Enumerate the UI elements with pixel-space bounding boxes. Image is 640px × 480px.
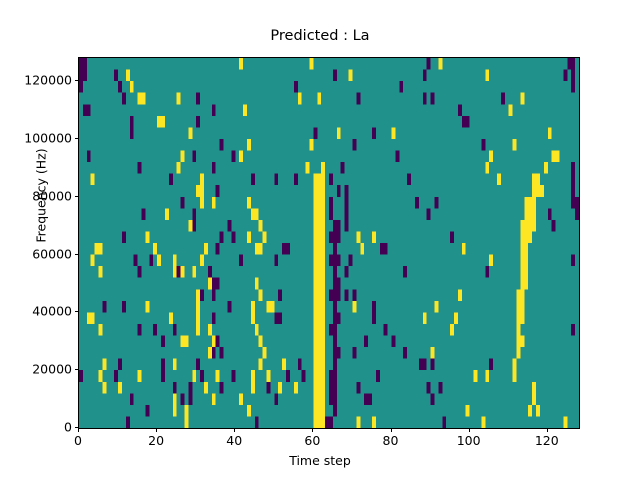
x-tick-label: 120 [535,433,559,448]
matplotlib-figure: Predicted : La 0200004000060000800001000… [0,0,640,480]
y-tick-label: 40000 [10,304,72,319]
page-title: Predicted : La [0,28,640,44]
y-tick-label: 120000 [10,73,72,88]
x-axis-label: Time step [0,453,640,468]
x-tick-label: 40 [226,433,242,448]
heatmap-image [79,58,579,428]
y-axis-label: Frequency (Hz) [34,148,49,242]
y-tick-label: 60000 [10,246,72,261]
y-tick-label: 0 [10,420,72,435]
x-tick-label: 20 [148,433,164,448]
heatmap-axes[interactable] [78,57,580,429]
x-tick-label: 80 [383,433,399,448]
x-tick-label: 100 [457,433,481,448]
y-tick-label: 20000 [10,362,72,377]
y-tick-label: 100000 [10,130,72,145]
x-tick-label: 0 [74,433,82,448]
x-tick-label: 60 [304,433,320,448]
